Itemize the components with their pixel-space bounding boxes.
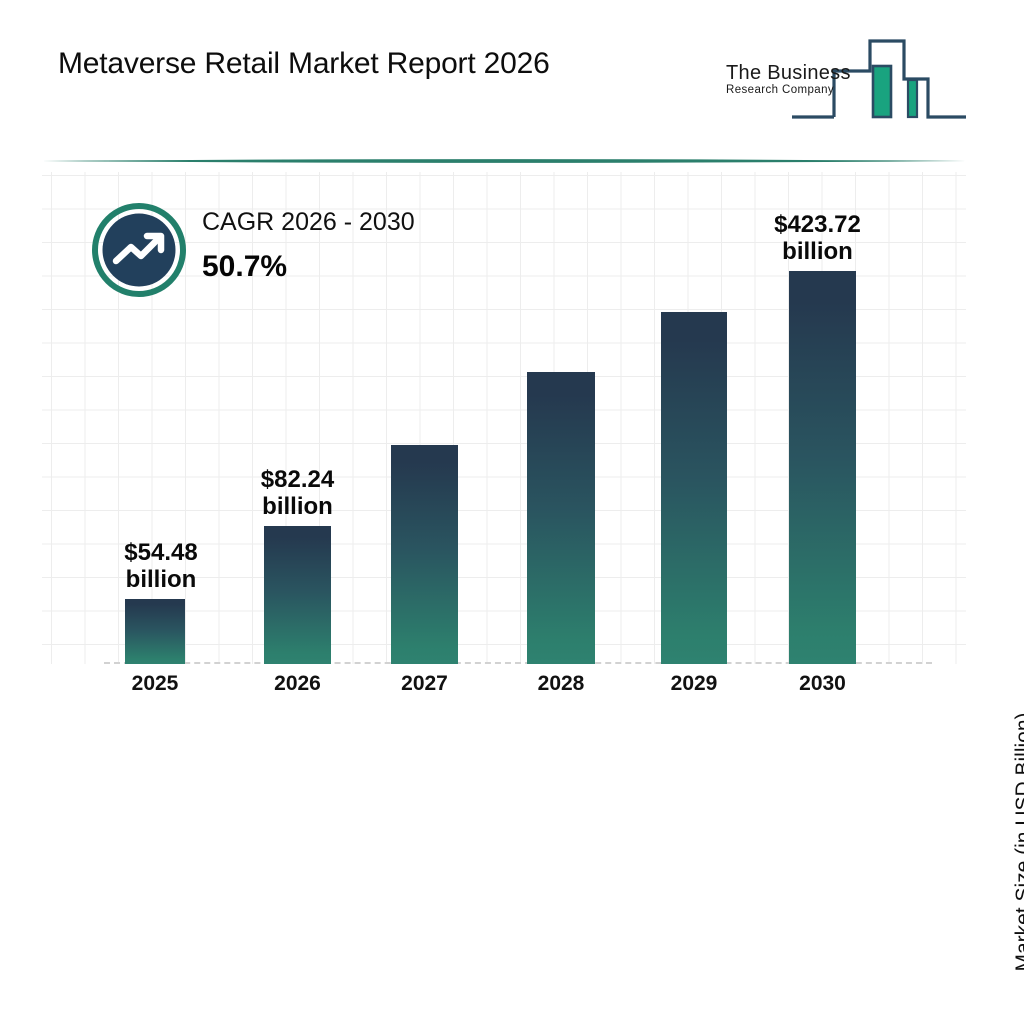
x-axis-label-2029: 2029 xyxy=(641,672,747,696)
y-axis-title: Market Size (in USD Billion) xyxy=(1012,652,1024,1032)
x-axis-label-2028: 2028 xyxy=(507,672,615,696)
x-axis-label-2025: 2025 xyxy=(105,672,205,696)
bar-value-amount: $54.48 xyxy=(95,540,227,567)
logo-line-2: Research Company xyxy=(726,85,876,97)
header-divider xyxy=(42,156,966,166)
bar-value-unit: billion xyxy=(95,567,227,594)
bar-2027[interactable] xyxy=(391,445,458,664)
logo-wordmark: The Business Research Company xyxy=(726,63,876,97)
cagr-period-label: CAGR 2026 - 2030 xyxy=(202,209,415,237)
bar-value-unit: billion xyxy=(228,494,367,521)
cagr-text-block: CAGR 2026 - 2030 50.7% xyxy=(202,209,415,283)
trending-up-icon xyxy=(92,203,186,297)
bar-value-label-2030: $423.72billion xyxy=(748,212,887,266)
bar-value-label-2025: $54.48billion xyxy=(95,540,227,594)
cagr-value-label: 50.7% xyxy=(202,250,415,283)
bar-2030[interactable] xyxy=(789,271,856,664)
bar-2029[interactable] xyxy=(661,312,727,664)
cagr-callout: CAGR 2026 - 2030 50.7% xyxy=(92,203,492,303)
chart-page: Metaverse Retail Market Report 2026 The … xyxy=(0,0,1024,768)
company-logo: The Business Research Company xyxy=(722,33,970,123)
x-axis-label-2026: 2026 xyxy=(244,672,351,696)
bar-value-amount: $423.72 xyxy=(748,212,887,239)
bar-value-amount: $82.24 xyxy=(228,467,367,494)
bar-2026[interactable] xyxy=(264,526,331,664)
logo-line-1: The Business xyxy=(726,63,876,83)
bar-2028[interactable] xyxy=(527,372,595,664)
x-axis-label-2027: 2027 xyxy=(371,672,478,696)
x-axis-label-2030: 2030 xyxy=(769,672,876,696)
bar-2025[interactable] xyxy=(125,599,185,664)
page-title: Metaverse Retail Market Report 2026 xyxy=(58,47,550,81)
bar-value-unit: billion xyxy=(748,239,887,266)
bar-value-label-2026: $82.24billion xyxy=(228,467,367,521)
